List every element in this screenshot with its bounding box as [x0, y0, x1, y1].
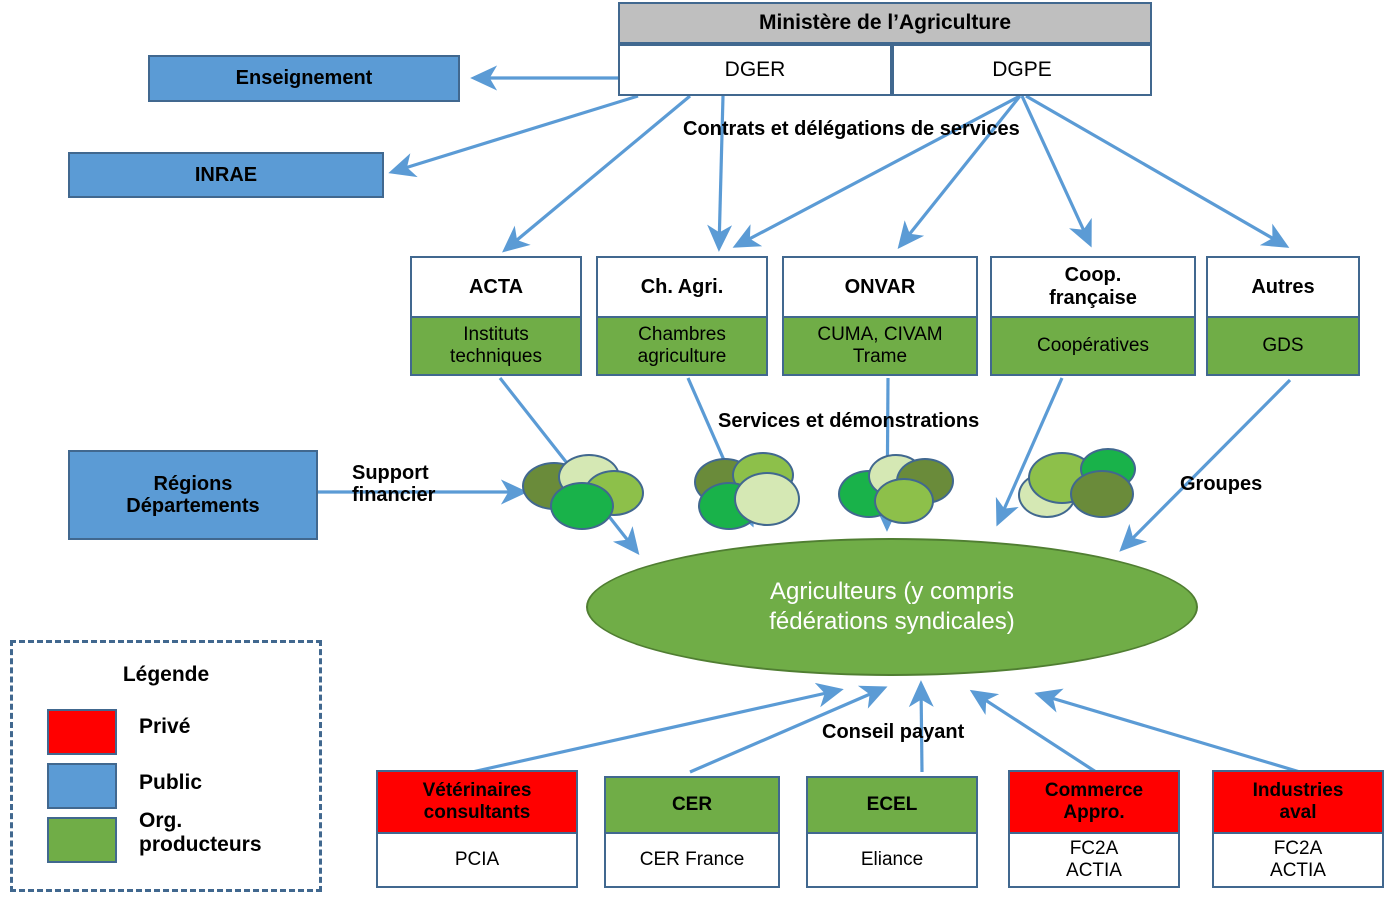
legend-label-prive: Privé: [139, 715, 190, 739]
legend-swatch-org-producteurs: [47, 817, 117, 863]
edge-label-support-financier: Support financier: [352, 462, 435, 507]
bottom-box-cer-name: CER: [606, 778, 778, 834]
legend-label-public: Public: [139, 771, 202, 795]
org-box-onvar-detail: CUMA, CIVAM Trame: [784, 318, 976, 374]
org-box-acta[interactable]: ACTA Instituts techniques: [410, 256, 582, 376]
edge-label-contrats: Contrats et délégations de services: [683, 118, 1020, 140]
central-node-agriculteurs[interactable]: Agriculteurs (y compris fédérations synd…: [586, 538, 1198, 676]
bottom-box-veterinaires-consultants-name: Vétérinaires consultants: [378, 772, 576, 834]
bottom-box-veterinaires-consultants-detail: PCIA: [378, 834, 576, 886]
bottom-box-commerce-appro-name: Commerce Appro.: [1010, 772, 1178, 834]
bottom-box-industries-aval-name: Industries aval: [1214, 772, 1382, 834]
bottom-box-industries-aval-detail: FC2A ACTIA: [1214, 834, 1382, 886]
bottom-box-cer-detail: CER France: [606, 834, 778, 886]
org-box-ch-agri-name: Ch. Agri.: [598, 258, 766, 318]
org-box-ch-agri-detail: Chambres agriculture: [598, 318, 766, 374]
org-box-coop-francaise[interactable]: Coop. française Coopératives: [990, 256, 1196, 376]
ministry-unit-dger[interactable]: DGER: [618, 44, 892, 96]
org-box-acta-name: ACTA: [412, 258, 580, 318]
edge-label-services: Services et démonstrations: [718, 410, 979, 432]
org-box-autres-name: Autres: [1208, 258, 1358, 318]
legend-panel: Légende Privé Public Org. producteurs: [10, 640, 322, 892]
public-box-regions-departements[interactable]: Régions Départements: [68, 450, 318, 540]
org-box-ch-agri[interactable]: Ch. Agri. Chambres agriculture: [596, 256, 768, 376]
bottom-box-cer[interactable]: CER CER France: [604, 776, 780, 888]
bottom-box-ecel[interactable]: ECEL Eliance: [806, 776, 978, 888]
bottom-box-commerce-appro-detail: FC2A ACTIA: [1010, 834, 1178, 886]
legend-label-org-producteurs: Org. producteurs: [139, 809, 262, 857]
ministry-unit-dgpe[interactable]: DGPE: [892, 44, 1152, 96]
farmer-group-cluster-4: [1018, 448, 1134, 524]
edge-label-groupes: Groupes: [1180, 473, 1262, 495]
legend-title: Légende: [13, 663, 319, 687]
ministry-title-box: Ministère de l’Agriculture: [618, 2, 1152, 44]
public-box-inrae[interactable]: INRAE: [68, 152, 384, 198]
edge-label-conseil-payant: Conseil payant: [822, 721, 964, 743]
legend-swatch-public: [47, 763, 117, 809]
bottom-box-veterinaires-consultants[interactable]: Vétérinaires consultants PCIA: [376, 770, 578, 888]
org-box-onvar[interactable]: ONVAR CUMA, CIVAM Trame: [782, 256, 978, 376]
org-box-autres[interactable]: Autres GDS: [1206, 256, 1360, 376]
diagram-canvas: Ministère de l’Agriculture DGER DGPE Ens…: [0, 0, 1386, 909]
farmer-group-cluster-3: [838, 452, 950, 526]
org-box-coop-francaise-detail: Coopératives: [992, 318, 1194, 374]
bottom-box-ecel-name: ECEL: [808, 778, 976, 834]
bottom-box-industries-aval[interactable]: Industries aval FC2A ACTIA: [1212, 770, 1384, 888]
farmer-group-cluster-1: [520, 452, 640, 528]
bottom-box-commerce-appro[interactable]: Commerce Appro. FC2A ACTIA: [1008, 770, 1180, 888]
org-box-autres-detail: GDS: [1208, 318, 1358, 374]
org-box-onvar-name: ONVAR: [784, 258, 976, 318]
legend-swatch-prive: [47, 709, 117, 755]
bottom-box-ecel-detail: Eliance: [808, 834, 976, 886]
org-box-coop-francaise-name: Coop. française: [992, 258, 1194, 318]
farmer-group-cluster-2: [694, 452, 812, 530]
org-box-acta-detail: Instituts techniques: [412, 318, 580, 374]
public-box-enseignement[interactable]: Enseignement: [148, 55, 460, 102]
